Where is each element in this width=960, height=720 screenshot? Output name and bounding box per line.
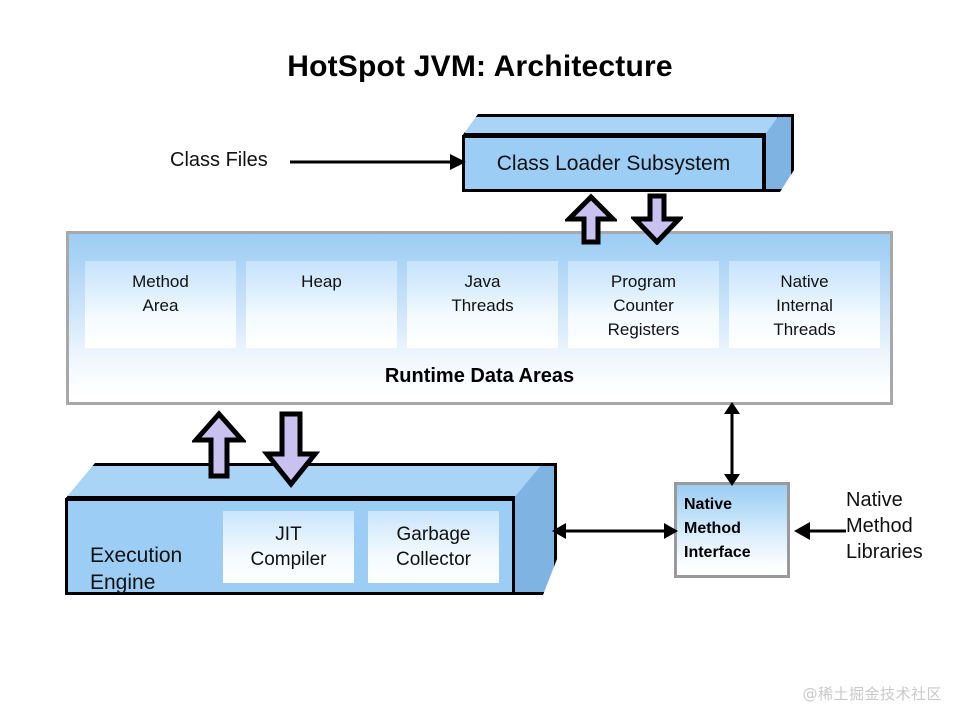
runtime-data-areas-panel[interactable]: Method Area Heap Java Threads Program Co… — [66, 231, 893, 405]
execution-engine-cell-garbage-collector[interactable]: Garbage Collector — [368, 511, 499, 583]
native-method-interface-box[interactable]: Native Method Interface — [674, 482, 790, 578]
class-loader-subsystem-box[interactable]: Class Loader Subsystem — [462, 114, 794, 192]
native-method-interface-label: Native Method Interface — [684, 493, 751, 565]
class-files-to-class-loader-arrow — [290, 150, 470, 174]
native-method-libraries-label: Native Method Libraries — [846, 487, 923, 565]
runtime-cell-method-area-label: Method Area — [132, 270, 189, 318]
class-loader-subsystem-text: Class Loader Subsystem — [497, 150, 730, 177]
execution-engine-label: Execution Engine — [90, 515, 240, 596]
execution-engine-up-block-arrow — [192, 410, 246, 480]
class-loader-down-block-arrow — [631, 193, 683, 245]
page-title: HotSpot JVM: Architecture — [0, 50, 960, 84]
runtime-cell-java-threads-label: Java Threads — [451, 270, 513, 318]
execution-engine-text: Execution Engine — [90, 544, 182, 594]
watermark: @稀土掘金技术社区 — [802, 683, 942, 704]
class-loader-subsystem-label: Class Loader Subsystem — [462, 135, 765, 192]
class-files-label: Class Files — [170, 147, 268, 173]
runtime-cell-heap[interactable]: Heap — [246, 261, 397, 348]
class-loader-up-block-arrow — [565, 193, 617, 245]
runtime-cell-native-internal-threads-label: Native Internal Threads — [773, 270, 835, 342]
runtime-cell-program-counter-registers[interactable]: Program Counter Registers — [568, 261, 719, 348]
jit-compiler-label: JIT Compiler — [250, 522, 326, 572]
runtime-cell-heap-label: Heap — [301, 270, 342, 294]
execution-engine-to-native-method-interface-arrow — [552, 519, 678, 543]
runtime-cell-native-internal-threads[interactable]: Native Internal Threads — [729, 261, 880, 348]
execution-engine-cell-jit-compiler[interactable]: JIT Compiler — [223, 511, 354, 583]
execution-engine-down-block-arrow — [262, 410, 320, 488]
garbage-collector-label: Garbage Collector — [396, 522, 471, 572]
runtime-to-native-method-interface-arrow — [720, 402, 744, 486]
native-method-libraries-to-interface-arrow — [794, 519, 846, 543]
runtime-cell-java-threads[interactable]: Java Threads — [407, 261, 558, 348]
runtime-data-areas-label: Runtime Data Areas — [69, 365, 890, 388]
runtime-cell-method-area[interactable]: Method Area — [85, 261, 236, 348]
class-loader-box-top-face — [462, 114, 780, 136]
runtime-cell-program-counter-registers-label: Program Counter Registers — [608, 270, 680, 342]
